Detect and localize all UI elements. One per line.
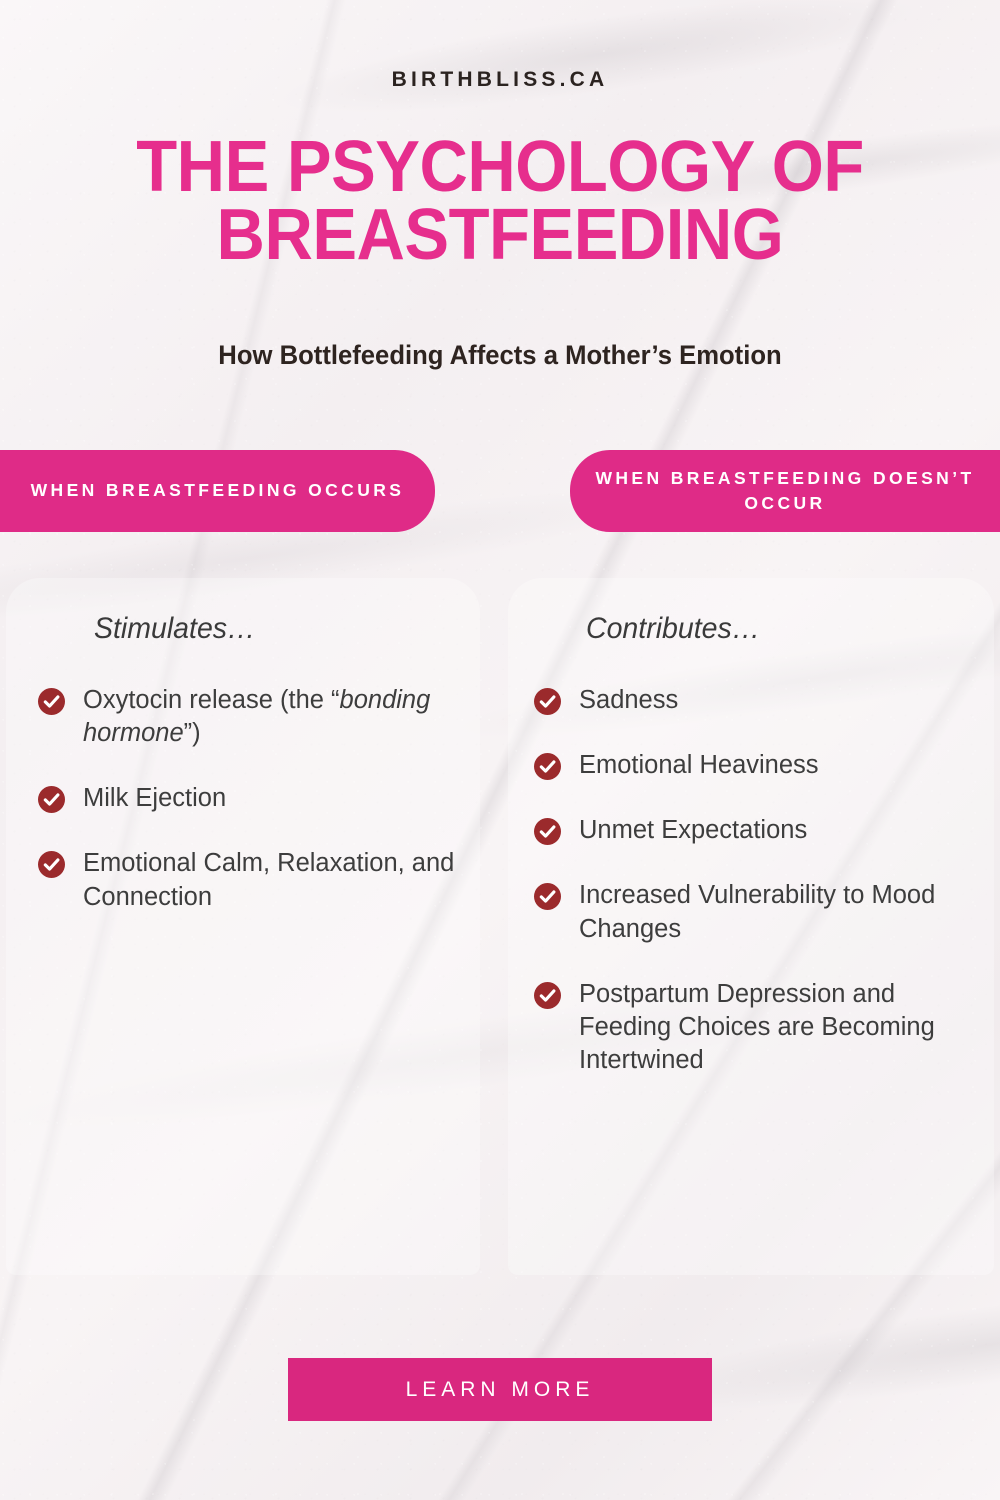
- page-subtitle: How Bottlefeeding Affects a Mother’s Emo…: [25, 340, 975, 371]
- learn-more-button[interactable]: LEARN MORE: [288, 1358, 712, 1421]
- list-item: Oxytocin release (the “bonding hormone”): [38, 684, 478, 750]
- check-circle-icon: [38, 786, 65, 813]
- check-circle-icon: [38, 851, 65, 878]
- list-item-label: Oxytocin release (the “bonding hormone”): [83, 684, 478, 750]
- list-item: Sadness: [534, 684, 994, 717]
- check-circle-icon: [534, 753, 561, 780]
- infographic-poster: BIRTHBLISS.CA THE PSYCHOLOGY OF BREASTFE…: [0, 0, 1000, 1500]
- page-title: THE PSYCHOLOGY OF BREASTFEEDING: [91, 133, 909, 270]
- benefit-list: Oxytocin release (the “bonding hormone”)…: [38, 684, 478, 914]
- list-item: Emotional Calm, Relaxation, and Connecti…: [38, 847, 478, 913]
- list-item-label: Emotional Calm, Relaxation, and Connecti…: [83, 847, 478, 913]
- list-item-label: Emotional Heaviness: [579, 749, 819, 782]
- list-item: Postpartum Depression and Feeding Choice…: [534, 978, 994, 1077]
- check-circle-icon: [534, 982, 561, 1009]
- check-circle-icon: [534, 883, 561, 910]
- brand-name: BIRTHBLISS.CA: [0, 68, 1000, 92]
- list-item-label: Increased Vulnerability to Mood Changes: [579, 879, 994, 945]
- column-heading-contributes: Contributes…: [586, 612, 974, 646]
- check-circle-icon: [534, 688, 561, 715]
- column-breastfeeding-occurs: Stimulates… Oxytocin release (the “bondi…: [38, 612, 478, 946]
- list-item: Unmet Expectations: [534, 814, 994, 847]
- list-item-label: Milk Ejection: [83, 782, 226, 815]
- list-item: Milk Ejection: [38, 782, 478, 815]
- check-circle-icon: [38, 688, 65, 715]
- check-circle-icon: [534, 818, 561, 845]
- list-item-label: Postpartum Depression and Feeding Choice…: [579, 978, 994, 1077]
- column-heading-stimulates: Stimulates…: [94, 612, 459, 646]
- risk-list: Sadness Emotional Heaviness Unmet Expect…: [534, 684, 994, 1077]
- section-banner-breastfeeding-does-not-occur: WHEN BREASTFEEDING DOESN’T OCCUR: [570, 450, 1000, 532]
- list-item: Emotional Heaviness: [534, 749, 994, 782]
- list-item: Increased Vulnerability to Mood Changes: [534, 879, 994, 945]
- section-banner-breastfeeding-occurs: WHEN BREASTFEEDING OCCURS: [0, 450, 435, 532]
- column-breastfeeding-does-not-occur: Contributes… Sadness Emotional Heaviness: [534, 612, 994, 1109]
- list-item-label: Sadness: [579, 684, 678, 717]
- list-item-label: Unmet Expectations: [579, 814, 807, 847]
